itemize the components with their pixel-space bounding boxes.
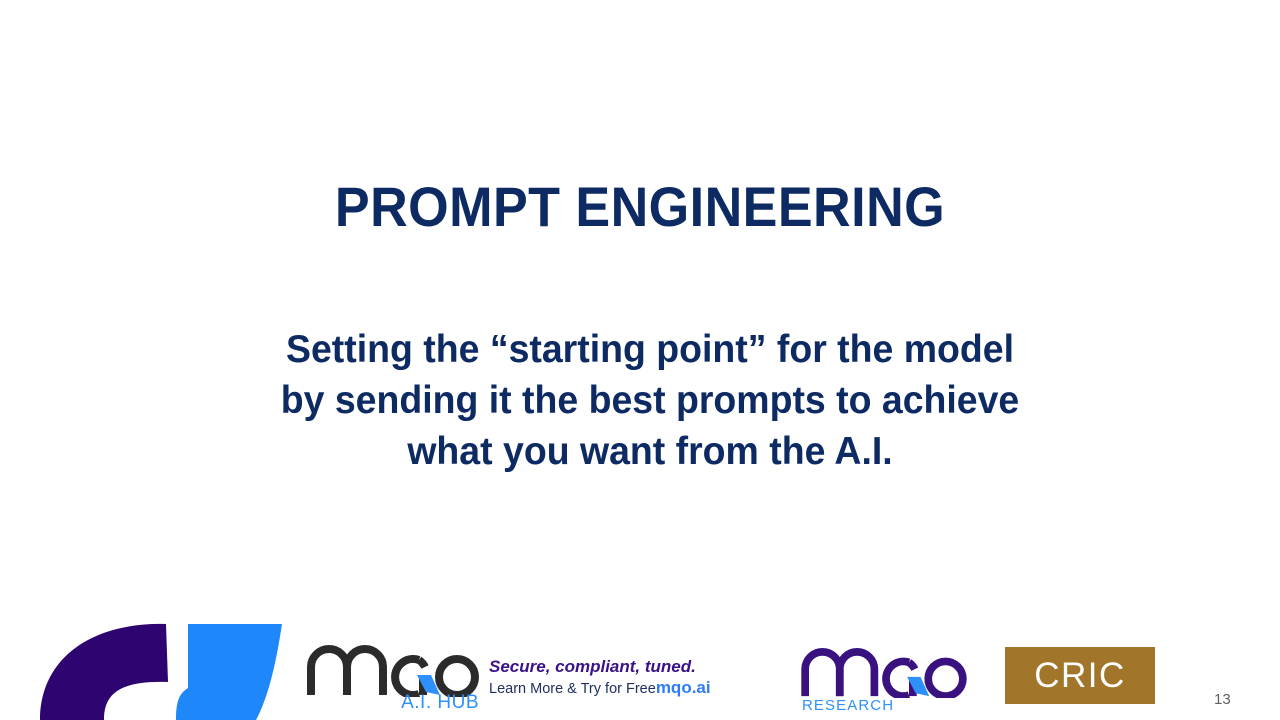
body-line: Setting the “starting point” for the mod…: [228, 324, 1073, 375]
page-title: PROMPT ENGINEERING: [45, 176, 1235, 238]
mqo-research-wordmark-icon: [801, 648, 967, 698]
tagline-headline: Secure, compliant, tuned.: [489, 657, 721, 677]
body-line: by sending it the best prompts to achiev…: [228, 375, 1073, 426]
brand-swoosh-blue-icon: [176, 624, 282, 720]
brand-decoration: [0, 610, 300, 720]
logo-research-sublabel: RESEARCH: [802, 697, 894, 714]
logo-mqo-ai-hub[interactable]: A.I. HUB: [307, 645, 479, 713]
logo-cric[interactable]: CRIC: [1005, 647, 1155, 704]
tagline-cta[interactable]: Learn More & Try for Freemqo.ai: [489, 677, 721, 700]
tagline-block[interactable]: Secure, compliant, tuned. Learn More & T…: [489, 657, 721, 700]
slide-body-text: Setting the “starting point” for the mod…: [228, 324, 1073, 477]
slide-canvas: PROMPT ENGINEERING Setting the “starting…: [0, 0, 1280, 720]
logo-hub-sublabel: A.I. HUB: [401, 692, 479, 714]
brand-arc-purple-icon: [40, 624, 168, 720]
body-line: what you want from the A.I.: [228, 426, 1073, 477]
logo-mqo-research[interactable]: RESEARCH: [801, 648, 967, 714]
cta-label: Learn More & Try for Free: [489, 681, 656, 697]
slide-footer: A.I. HUB Secure, compliant, tuned. Learn…: [0, 610, 1280, 720]
mqo-wordmark-icon: [307, 645, 479, 697]
cta-domain-link[interactable]: mqo.ai: [656, 678, 711, 697]
cric-wordmark: CRIC: [1034, 658, 1126, 693]
slide-page-number: 13: [1214, 691, 1231, 708]
